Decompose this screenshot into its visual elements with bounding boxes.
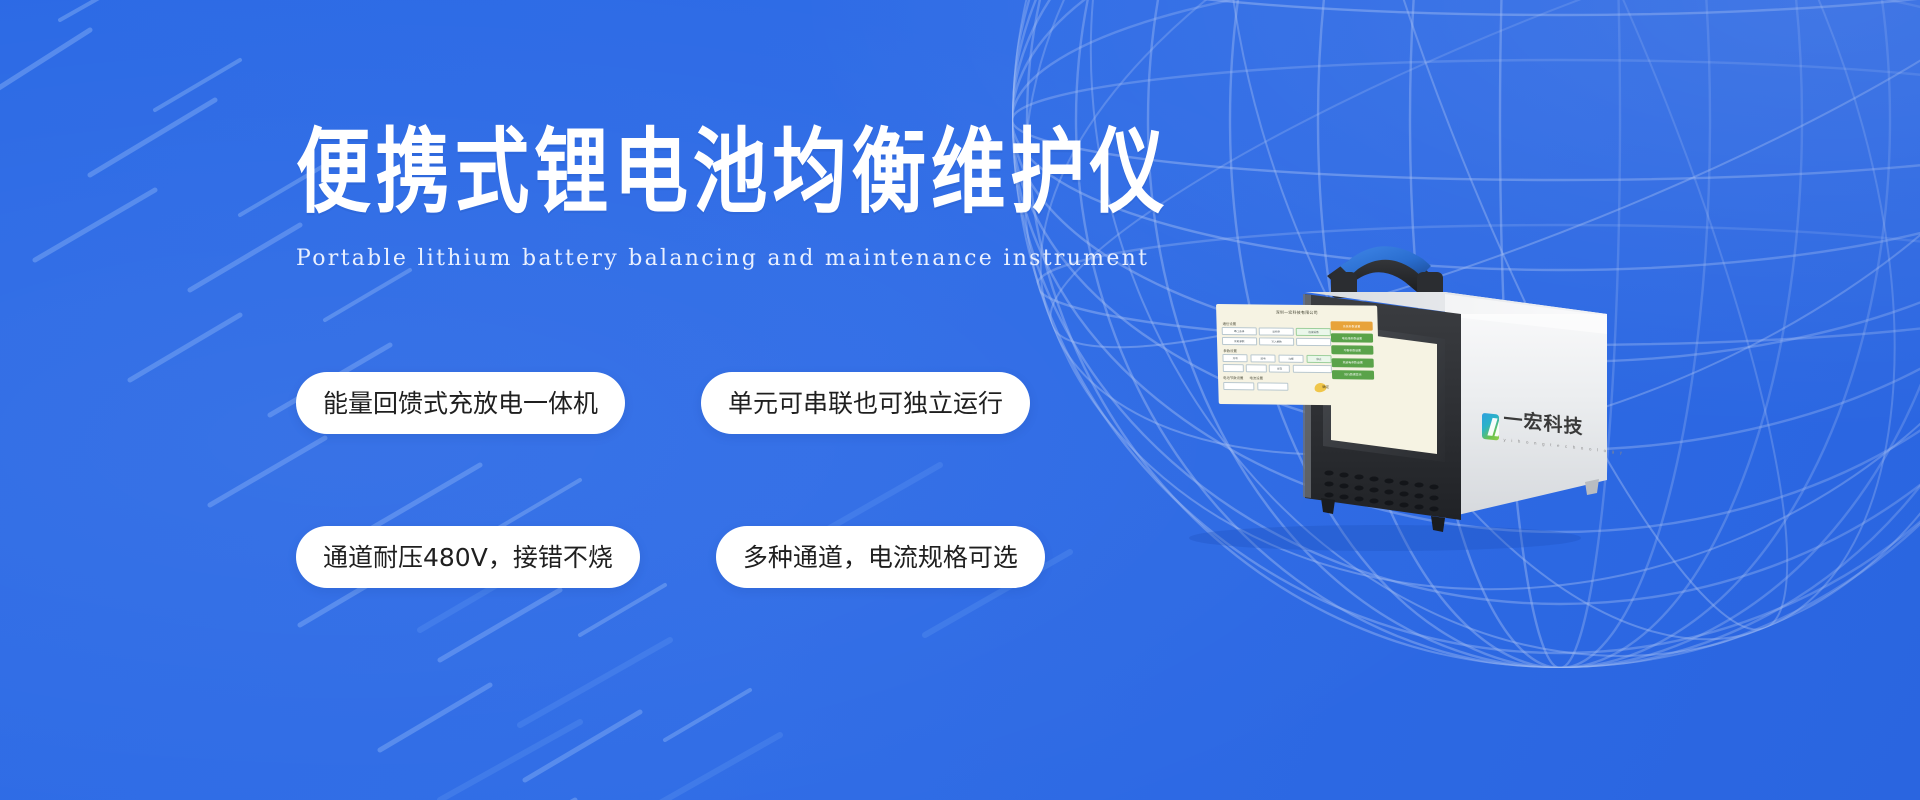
screen-field-blank-3[interactable]: [1246, 365, 1267, 373]
screen-button-save[interactable]: 保存: [1269, 365, 1290, 373]
product-device-image: 深圳一宏科技有限公司 通信设置 串口选择 波特率 连接设备 读取参数 写入参数: [1145, 230, 1615, 560]
screen-action-pack-params[interactable]: 电池组参数设置: [1331, 333, 1373, 342]
screen-section-params: 参数设置: [1223, 348, 1331, 354]
screen-button-stop[interactable]: 停止: [1306, 355, 1332, 363]
screen-section-current: 电流设置: [1249, 375, 1263, 380]
screen-field-blank-2[interactable]: [1223, 364, 1244, 372]
screen-button-write-params[interactable]: 写入参数: [1259, 338, 1294, 346]
screen-button-baudrate[interactable]: 波特率: [1259, 327, 1294, 335]
brand-logo-icon: [1482, 412, 1499, 440]
feature-pill-row-2: 通道耐压480V，接错不烧 多种通道，电流规格可选: [296, 526, 1116, 588]
page-title: 便携式锂电池均衡维护仪: [296, 126, 1335, 219]
screen-action-chargedischarge-params[interactable]: 充放电参数设置: [1332, 358, 1374, 367]
screen-field-blank-4[interactable]: [1292, 365, 1332, 373]
screen-action-balance-params[interactable]: 均衡参数设置: [1331, 346, 1373, 355]
feature-pill-energy-feedback[interactable]: 能量回馈式充放电一体机: [296, 372, 625, 434]
device-screen[interactable]: 深圳一宏科技有限公司 通信设置 串口选择 波特率 连接设备 读取参数 写入参数: [1216, 304, 1380, 406]
screen-button-charge[interactable]: 充电: [1222, 354, 1248, 362]
screen-action-runtime-data[interactable]: 运行数据显示: [1332, 370, 1374, 379]
feature-pill-channel-options[interactable]: 多种通道，电流规格可选: [716, 526, 1045, 588]
screen-confirm-label: 确定: [1322, 384, 1329, 389]
screen-button-discharge[interactable]: 放电: [1250, 355, 1276, 363]
device-handle: [1327, 246, 1443, 298]
screen-button-serial[interactable]: 串口选择: [1222, 327, 1257, 335]
feature-pill-row-1: 能量回馈式充放电一体机 单元可串联也可独立运行: [296, 372, 1116, 434]
screen-field-blank-1[interactable]: [1296, 338, 1331, 346]
screen-action-system-params[interactable]: 系统参数设置: [1331, 321, 1373, 330]
screen-button-read-params[interactable]: 读取参数: [1222, 337, 1257, 345]
feature-pill-group: 能量回馈式充放电一体机 单元可串联也可独立运行 通道耐压480V，接错不烧 多种…: [296, 372, 1116, 588]
screen-section-cells: 电池节数设置: [1223, 375, 1243, 380]
screen-input-cells[interactable]: [1223, 382, 1255, 390]
product-banner: 便携式锂电池均衡维护仪 Portable lithium battery bal…: [0, 0, 1920, 800]
screen-button-balance[interactable]: 均衡: [1278, 355, 1304, 363]
feature-pill-voltage-rating[interactable]: 通道耐压480V，接错不烧: [296, 526, 640, 588]
screen-input-current[interactable]: [1257, 382, 1289, 390]
feature-pill-series-or-standalone[interactable]: 单元可串联也可独立运行: [701, 372, 1030, 434]
screen-button-connect[interactable]: 连接设备: [1296, 328, 1331, 336]
screen-section-comm: 通信设置: [1222, 321, 1330, 327]
